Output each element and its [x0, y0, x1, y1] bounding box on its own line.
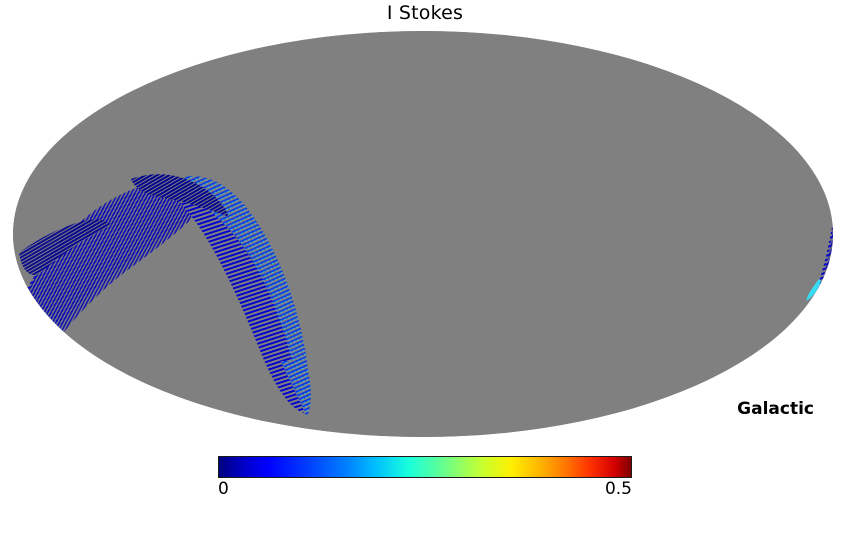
colorbar[interactable]: 0 0.5 [218, 456, 632, 502]
colorbar-tick-labels: 0 0.5 [218, 478, 632, 502]
page-title: I Stokes [0, 2, 850, 24]
scan-pattern-overlay [13, 31, 833, 437]
colorbar-min-label: 0 [218, 479, 229, 499]
coordinate-system-label: Galactic [737, 399, 814, 419]
colorbar-max-label: 0.5 [605, 479, 632, 499]
mollweide-ellipse [13, 31, 833, 437]
sky-map[interactable] [13, 31, 833, 437]
figure-canvas: I Stokes [0, 0, 850, 540]
colorbar-gradient [218, 456, 632, 478]
dither-overlay [13, 31, 833, 437]
